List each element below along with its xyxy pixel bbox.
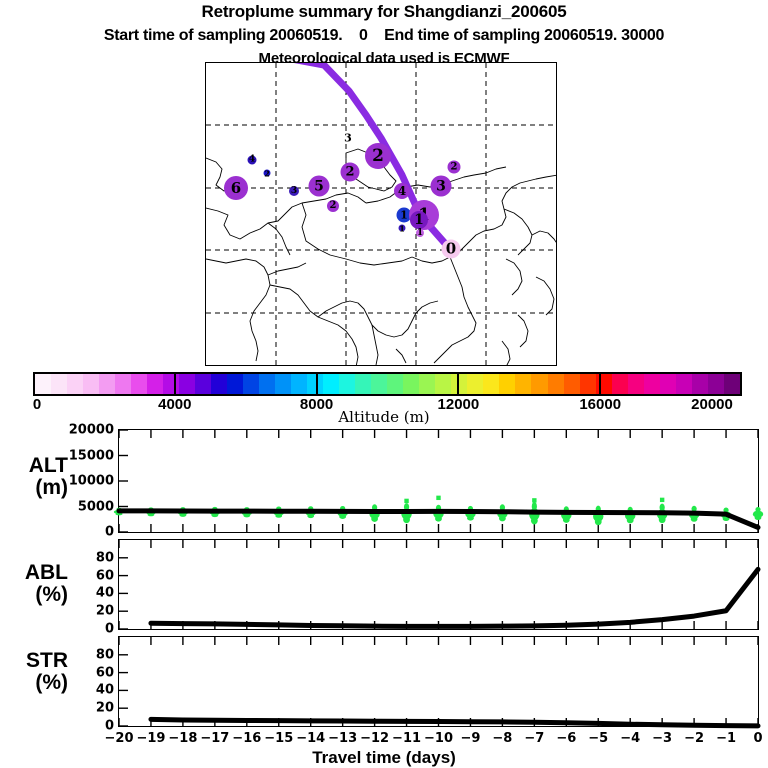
colorbar-segment (275, 374, 291, 394)
y-axis-tick-label: 40 (58, 586, 114, 601)
colorbar-segment (628, 374, 644, 394)
colorbar-segment (499, 374, 515, 394)
str-plot-panel (118, 636, 759, 727)
x-axis-tick-label: −14 (296, 731, 325, 746)
colorbar-segment (243, 374, 259, 394)
alt-plot-graphics (119, 430, 758, 532)
map-marker-label: 2 (330, 201, 337, 211)
map-marker: 2 (264, 170, 271, 177)
x-axis-tick-label: −4 (620, 731, 640, 746)
map-marker-label: 2 (264, 169, 270, 177)
colorbar-segment (99, 374, 115, 394)
map-marker: 0 (442, 240, 461, 259)
x-axis-tick-label: −10 (424, 731, 453, 746)
colorbar-segment (564, 374, 580, 394)
map-marker: 5 (309, 176, 330, 197)
y-axis-tick-label: 20000 (58, 423, 114, 438)
x-axis-tick-label: −1 (716, 731, 736, 746)
map-marker-label: 2 (372, 148, 384, 165)
map-marker: 3 (289, 186, 299, 196)
colorbar-segment (131, 374, 147, 394)
colorbar-divider (316, 372, 318, 396)
colorbar-segment (195, 374, 211, 394)
x-axis-tick-label: −15 (264, 731, 293, 746)
map-marker: 4 (248, 156, 257, 165)
colorbar-segment (708, 374, 724, 394)
str-plot-graphics (119, 637, 758, 726)
colorbar-segment (644, 374, 660, 394)
y-axis-tick-label: 60 (58, 665, 114, 680)
map-marker-label: 2 (345, 166, 354, 179)
map-marker: 1 (410, 211, 428, 229)
y-axis-tick-label: 0 (58, 622, 114, 637)
colorbar-segment (435, 374, 451, 394)
x-axis-tick-label: −7 (524, 731, 544, 746)
colorbar-segment (580, 374, 596, 394)
map-marker-label: 3 (436, 179, 446, 193)
map-marker-label: 0 (446, 242, 456, 257)
map-marker-label: 1 (417, 229, 423, 238)
map-marker-label: 4 (398, 185, 406, 197)
colorbar-segment (291, 374, 307, 394)
map-marker: 2 (448, 161, 461, 174)
y-axis-tick-label: 5000 (58, 499, 114, 514)
colorbar-segment (548, 374, 564, 394)
colorbar-segment (451, 374, 467, 394)
colorbar-divider (599, 372, 601, 396)
y-axis-tick-label: 60 (58, 568, 114, 583)
x-axis-tick-label: −3 (652, 731, 672, 746)
x-axis-tick-label: −17 (200, 731, 229, 746)
map-marker-label: 1 (399, 224, 405, 232)
colorbar-segment (51, 374, 67, 394)
colorbar-segment (339, 374, 355, 394)
x-axis-tick-label: −12 (360, 731, 389, 746)
x-axis-tick-label: −6 (556, 731, 576, 746)
retroplume-summary-figure: Retroplume summary for Shangdianzi_20060… (0, 0, 768, 768)
colorbar-segment (596, 374, 612, 394)
map-marker: 3 (345, 135, 352, 142)
colorbar-segment (259, 374, 275, 394)
colorbar-segment (515, 374, 531, 394)
colorbar-segment (531, 374, 547, 394)
x-axis-tick-label: −8 (492, 731, 512, 746)
map-marker: 2 (327, 200, 339, 212)
colorbar-segment (115, 374, 131, 394)
colorbar-segment (483, 374, 499, 394)
map-marker-label: 5 (314, 179, 324, 193)
map-marker-label: 3 (291, 187, 297, 196)
colorbar-segment (403, 374, 419, 394)
y-axis-tick-label: 0 (58, 525, 114, 540)
map-graphics (206, 63, 557, 366)
colorbar-segment (211, 374, 227, 394)
y-axis-tick-label: 20 (58, 604, 114, 619)
y-axis-tick-label: 80 (58, 550, 114, 565)
abl-plot-graphics (119, 540, 758, 629)
colorbar-segment (467, 374, 483, 394)
map-marker: 2 (365, 143, 391, 169)
xaxis-title: Travel time (days) (0, 748, 768, 768)
x-axis-tick-label: −20 (105, 731, 134, 746)
colorbar-divider (457, 372, 459, 396)
colorbar-segment (371, 374, 387, 394)
map-gridlines (206, 63, 557, 366)
colorbar-segment (323, 374, 339, 394)
map-marker: 3 (431, 176, 452, 197)
retroplume-map: 642352224321111103 (205, 62, 557, 366)
abl-plot-panel (118, 539, 759, 630)
colorbar-segment (724, 374, 740, 394)
colorbar-segment (227, 374, 243, 394)
map-marker: 2 (341, 163, 360, 182)
colorbar-segment (612, 374, 628, 394)
y-axis-tick-label: 40 (58, 683, 114, 698)
colorbar-segment (35, 374, 51, 394)
colorbar-segment (692, 374, 708, 394)
colorbar-segment (163, 374, 179, 394)
x-axis-tick-label: −19 (136, 731, 165, 746)
colorbar-segment (419, 374, 435, 394)
map-marker-label: 4 (249, 156, 255, 165)
map-marker-label: 2 (451, 162, 458, 172)
colorbar-segment (83, 374, 99, 394)
y-axis-tick-label: 10000 (58, 474, 114, 489)
map-marker: 1 (416, 229, 424, 237)
colorbar-title: Altitude (m) (0, 408, 768, 426)
x-axis-tick-label: −18 (168, 731, 197, 746)
alt-plot-panel (118, 429, 759, 533)
altitude-colorbar (33, 372, 742, 396)
colorbar-segment (179, 374, 195, 394)
y-axis-tick-label: 15000 (58, 448, 114, 463)
colorbar-segment (660, 374, 676, 394)
map-marker: 1 (399, 225, 406, 232)
map-marker: 4 (394, 183, 410, 199)
colorbar-segment (355, 374, 371, 394)
page-title: Retroplume summary for Shangdianzi_20060… (0, 2, 768, 22)
y-axis-tick-label: 80 (58, 647, 114, 662)
x-axis-tick-label: −5 (588, 731, 608, 746)
x-axis-tick-label: 0 (753, 731, 762, 746)
colorbar-segment (387, 374, 403, 394)
x-axis-tick-label: −11 (392, 731, 421, 746)
x-axis-tick-label: −9 (460, 731, 480, 746)
colorbar-divider (174, 372, 176, 396)
sampling-time-line: Start time of sampling 20060519. 0 End t… (0, 27, 768, 45)
y-axis-tick-label: 20 (58, 701, 114, 716)
colorbar-segment (67, 374, 83, 394)
map-marker-label: 6 (231, 181, 241, 196)
map-coastlines (206, 149, 557, 366)
map-marker: 6 (224, 176, 248, 200)
x-axis-tick-label: −13 (328, 731, 357, 746)
colorbar-segment (676, 374, 692, 394)
map-marker-label: 1 (414, 213, 424, 227)
map-marker-label: 1 (400, 210, 408, 221)
x-axis-tick-label: −2 (684, 731, 704, 746)
x-axis-tick-label: −16 (232, 731, 261, 746)
colorbar-segment (147, 374, 163, 394)
